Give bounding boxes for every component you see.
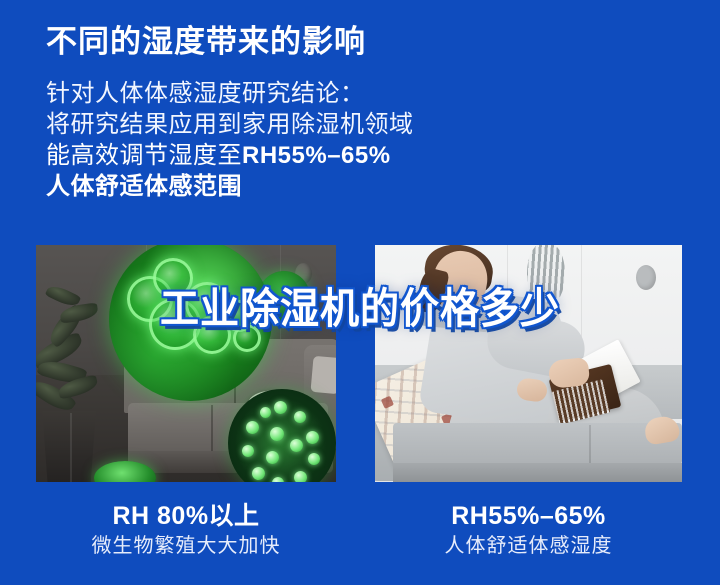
intro-line-3-highlight: RH55%–65% [242, 142, 391, 169]
caption-right-sub: 人体舒适体感湿度 [375, 532, 682, 560]
intro-line-3-plain: 能高效调节湿度至 [46, 142, 242, 169]
virus-nub [308, 453, 320, 465]
plant-pot [40, 411, 96, 482]
virus-nub [242, 445, 254, 457]
sofa-seat-seam [211, 405, 213, 453]
side-pillow [310, 356, 336, 394]
virus-nub [260, 407, 271, 418]
plant-pot-edge [70, 413, 72, 482]
virus-nub [246, 421, 259, 434]
overlay-title: 工业除湿机的价格多少 [25, 275, 695, 336]
caption-left-sub: 微生物繁殖大大加快 [36, 532, 336, 560]
intro-line-2: 将研究结果应用到家用除湿机领域 [46, 109, 486, 140]
caption-left-main: RH 80%以上 [36, 500, 336, 532]
caption-left: RH 80%以上 微生物繁殖大大加快 [36, 500, 336, 560]
virus-nub [270, 427, 284, 441]
intro-text-block: 针对人体体感湿度研究结论： 将研究结果应用到家用除湿机领域 能高效调节湿度至RH… [46, 78, 486, 202]
virus-nub [274, 401, 287, 414]
intro-line-1: 针对人体体感湿度研究结论： [46, 78, 486, 109]
intro-line-4: 人体舒适体感范围 [46, 171, 486, 202]
sofa-base [393, 463, 682, 482]
virus-nub [252, 467, 265, 480]
virus-nub [266, 451, 279, 464]
sofa-seat-seam [589, 425, 591, 465]
pillow-motif-icon [381, 396, 394, 409]
intro-line-3: 能高效调节湿度至RH55%–65% [46, 140, 486, 171]
virus-nub [306, 431, 319, 444]
page-title: 不同的湿度带来的影响 [46, 16, 366, 61]
virus-nub [272, 477, 284, 482]
poster-root: 不同的湿度带来的影响 针对人体体感湿度研究结论： 将研究结果应用到家用除湿机领域… [0, 0, 720, 585]
caption-right-main: RH55%–65% [375, 500, 682, 532]
caption-right: RH55%–65% 人体舒适体感湿度 [375, 500, 682, 560]
virus-nub [290, 439, 303, 452]
virus-nub [294, 471, 307, 482]
virus-nub [294, 411, 306, 423]
sofa-seat [393, 423, 682, 465]
